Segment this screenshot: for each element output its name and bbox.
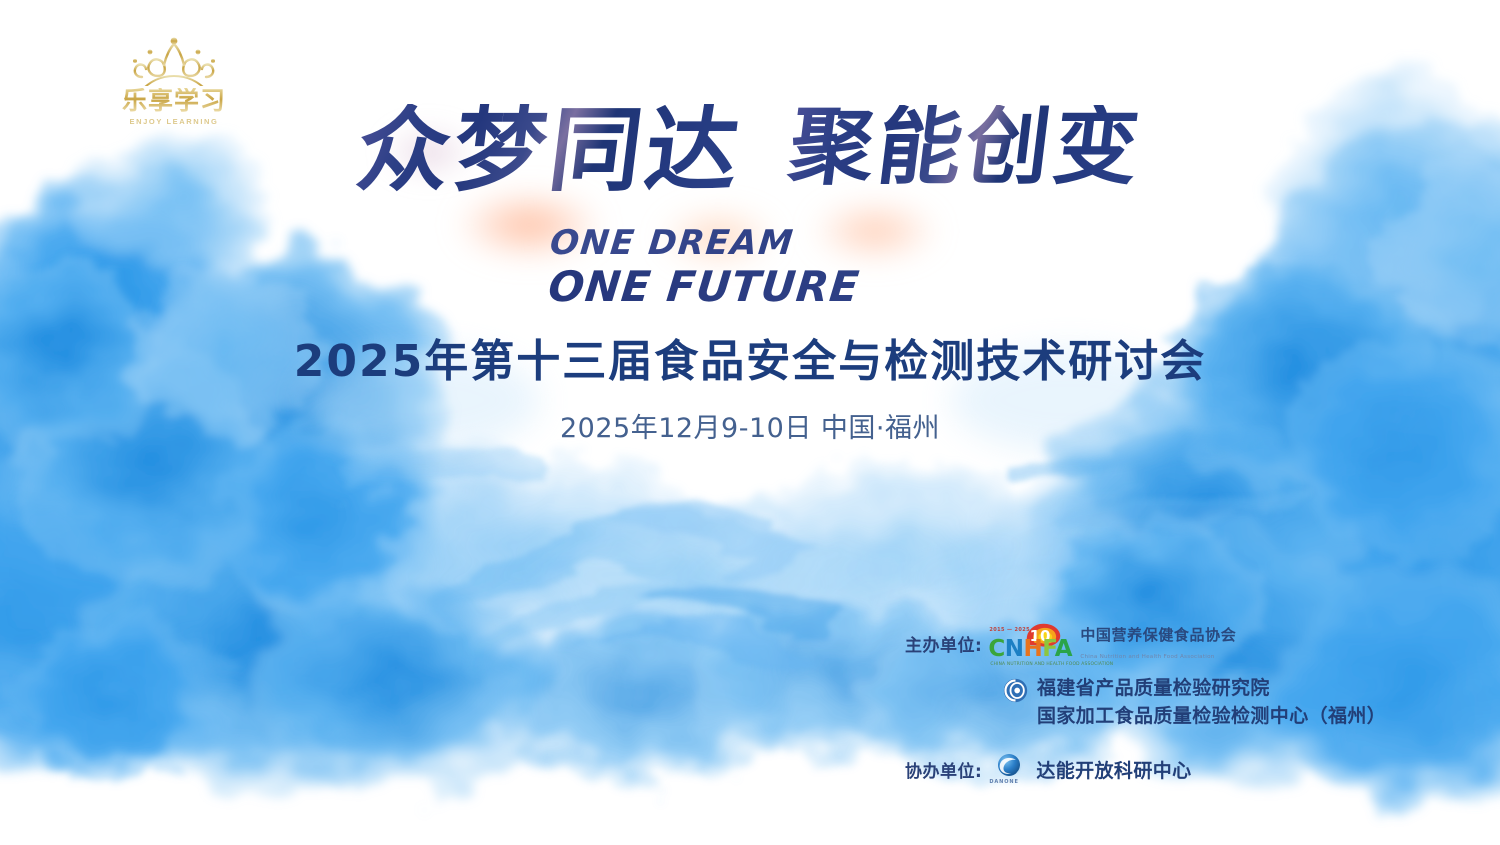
glow-accent-orange-3 [810, 200, 940, 262]
calligraphy-phrase-1: 众梦同达 [352, 104, 747, 196]
cnhfa-logo-icon: 2015 — 2025 10 CNHFA CHINA NUTRITION AND… [988, 627, 1074, 661]
coorganizer-name: 达能开放科研中心 [1036, 756, 1191, 783]
danone-wordmark: DANONE [989, 779, 1018, 785]
page-title: 2025年第十三届食品安全与检测技术研讨会 [0, 338, 1500, 386]
calligraphy-title: 众梦同达 聚能创变 [358, 104, 1142, 196]
host-name-block: 中国营养保健食品协会 China Nutrition and Health Fo… [1080, 626, 1236, 661]
institute-organizer-row: 福建省产品质量检验研究院 国家加工食品质量检验检测中心（福州） [1003, 675, 1465, 730]
calligraphy-phrase-2: 聚能创变 [785, 105, 1147, 189]
cnhfa-logo-letters: CNHFA [988, 638, 1072, 661]
headline-block: 众梦同达 聚能创变 ONE DREAM ONE FUTURE [0, 104, 1500, 304]
host-name-cn: 中国营养保健食品协会 [1080, 626, 1236, 644]
english-slogan: ONE DREAM ONE FUTURE [0, 226, 1500, 308]
event-date-location: 2025年12月9-10日 中国·福州 [0, 406, 1500, 445]
slogan-line-one-future: ONE FUTURE [0, 266, 1456, 308]
institute-name-lines: 福建省产品质量检验研究院 国家加工食品质量检验检测中心（福州） [1037, 675, 1386, 730]
cnhfa-logo-subtext: CHINA NUTRITION AND HEALTH FOOD ASSOCIAT… [990, 662, 1113, 667]
institute-name-line-2: 国家加工食品质量检验检测中心（福州） [1037, 703, 1386, 731]
institute-name-line-1: 福建省产品质量检验研究院 [1037, 675, 1386, 703]
glow-accent-orange-2 [658, 208, 778, 266]
coorganizer-row: 协办单位: DANONE 达能开放科研中心 [905, 752, 1465, 786]
crown-icon [104, 34, 244, 86]
host-name-en: China Nutrition and Health Food Associat… [1080, 654, 1214, 660]
danone-globe-icon: DANONE [988, 752, 1030, 786]
conference-poster: 乐享学习 ENJOY LEARNING 众梦同达 聚能创变 ONE DREAM … [0, 0, 1500, 845]
organizers-block: 主办单位: 2015 — 2025 10 CNHFA CHINA NUTRITI… [905, 626, 1465, 786]
slogan-line-one-dream: ONE DREAM [0, 226, 1424, 260]
host-label: 主办单位: [905, 631, 982, 656]
host-organizer-row: 主办单位: 2015 — 2025 10 CNHFA CHINA NUTRITI… [905, 626, 1465, 661]
ink-wisps [330, 430, 1300, 542]
coorganizer-label: 协办单位: [905, 757, 982, 782]
fujian-institute-icon [1003, 678, 1028, 703]
